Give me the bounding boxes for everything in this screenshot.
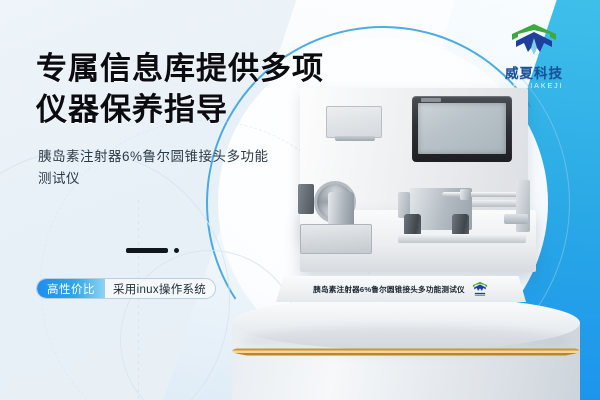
machine-knob-left — [404, 214, 421, 236]
subtitle: 胰岛素注射器6%鲁尔圆锥接头多功能测试仪 — [38, 146, 278, 191]
badge-pill-label: 高性价比 — [37, 279, 105, 298]
machine-hmi-frame — [412, 96, 512, 162]
headline-line-2: 仪器保养指导 — [36, 89, 324, 130]
machine-end-bracket — [516, 180, 530, 232]
machine-base-tray — [300, 224, 372, 254]
logo-chinese-name: 威夏科技 — [505, 62, 563, 82]
weixia-hexagon-icon — [506, 22, 562, 60]
weixia-small-logo-icon — [471, 280, 489, 298]
decorative-divider — [126, 248, 179, 253]
product-pedestal — [232, 296, 580, 400]
machine-clamp-block — [298, 184, 314, 214]
badge-text-label: 采用inux操作系统 — [105, 279, 215, 298]
product-image — [292, 88, 544, 284]
product-caption-text: 胰岛素注射器6%鲁尔圆锥接头多功能测试仪 — [313, 284, 465, 295]
hmi-brand-mark — [421, 98, 441, 102]
machine-knob-right — [452, 214, 469, 236]
divider-bar — [126, 248, 168, 253]
headline-line-1: 专属信息库提供多项 — [36, 48, 324, 89]
machine-lower-rail — [398, 234, 526, 243]
hmi-screen — [418, 103, 506, 154]
feature-badge: 高性价比 采用inux操作系统 — [36, 278, 216, 299]
promo-banner: 专属信息库提供多项 仪器保养指导 胰岛素注射器6%鲁尔圆锥接头多功能测试仪 高性… — [0, 0, 600, 400]
brand-logo: 威夏科技 WEIXIAKEJI — [486, 22, 582, 90]
headline: 专属信息库提供多项 仪器保养指导 — [36, 48, 324, 130]
logo-english-name: WEIXIAKEJI — [504, 83, 563, 90]
pedestal-gold-ring — [232, 340, 580, 362]
decorative-dashed-line — [138, 200, 139, 400]
divider-dot — [174, 248, 179, 253]
machine-plate — [326, 106, 382, 138]
product-caption-plinth: 胰岛素注射器6%鲁尔圆锥接头多功能测试仪 — [276, 276, 526, 302]
machine-shaft-collar — [460, 189, 471, 200]
